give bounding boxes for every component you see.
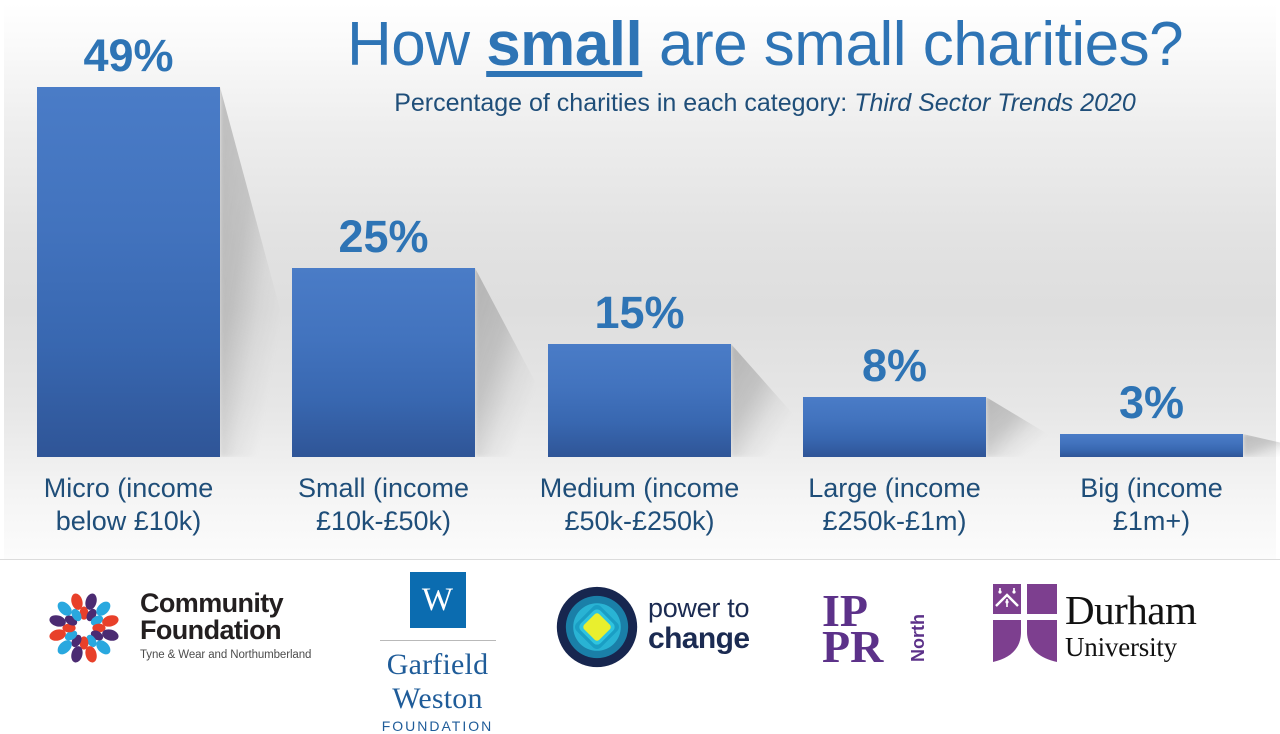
durham-shield-icon [990,582,1060,664]
bar-category-label-line: Small (income [276,472,491,505]
durham-line-2: University [1065,633,1196,662]
bar-category-label: Micro (incomebelow £10k) [21,472,236,538]
bar-category-label-line: below £10k) [21,505,236,538]
bar-category-label-line: £250k-£1m) [787,505,1002,538]
bar-category-label-line: Big (income [1044,472,1259,505]
bar-category-label: Small (income£10k-£50k) [276,472,491,538]
slide-canvas: How small are small charities? Percentag… [0,0,1280,720]
durham-line-1: Durham [1065,588,1196,633]
bar-shadow [220,87,282,457]
bar-category-label-line: £1m+) [1044,505,1259,538]
community-foundation-wordmark: Community Foundation Tyne & Wear and Nor… [140,590,311,663]
bar-value-label: 8% [803,341,986,391]
bar-chart: 49%Micro (incomebelow £10k)25%Small (inc… [0,0,1280,560]
bar-rect[interactable] [37,87,220,457]
bar-rect[interactable] [803,397,986,457]
power-to-change-wordmark: power to change [648,594,749,655]
ippr-north-wordmark-icon: IP PR North [820,588,940,668]
bar-rect[interactable] [548,344,731,457]
bar-category-label-line: £50k-£250k) [532,505,747,538]
bar-rect[interactable] [292,268,475,457]
bar-value-label: 25% [292,212,475,262]
bar-value-label: 49% [37,31,220,81]
logo-garfield-weston: W Garfield Weston FOUNDATION [350,572,525,702]
bar-category-label: Medium (income£50k-£250k) [532,472,747,538]
cf-line-2: Foundation [140,617,311,644]
cf-line-3: Tyne & Wear and Northumberland [140,647,311,663]
bar-value-label: 3% [1060,378,1243,428]
ptc-line-1: power to [648,594,749,623]
community-foundation-burst-icon [36,584,132,672]
garfield-weston-sub: FOUNDATION [350,718,525,734]
bar-group: 3%Big (income£1m+) [1060,434,1243,457]
svg-text:North: North [908,614,928,662]
bar-category-label-line: £10k-£50k) [276,505,491,538]
bar-shadow [1243,434,1280,457]
logo-community-foundation: Community Foundation Tyne & Wear and Nor… [36,580,336,675]
bar-category-label-line: Medium (income [532,472,747,505]
garfield-weston-name: Garfield Weston [350,648,525,716]
bar-category-label-line: Large (income [787,472,1002,505]
bar-shadow [731,344,793,457]
garfield-weston-rule [380,640,496,641]
bar-group: 49%Micro (incomebelow £10k) [37,87,220,457]
bar-category-label: Large (income£250k-£1m) [787,472,1002,538]
bar-shadow [986,397,1048,457]
bar-category-label: Big (income£1m+) [1044,472,1259,538]
svg-text:PR: PR [822,621,884,668]
bar-group: 8%Large (income£250k-£1m) [803,397,986,457]
logo-power-to-change: power to change [556,586,776,670]
ptc-line-2: change [648,623,749,655]
durham-wordmark: Durham University [1065,588,1196,662]
logo-durham-university: Durham University [990,582,1205,672]
bar-shadow [475,268,537,457]
cf-line-1: Community [140,590,311,617]
bar-rect[interactable] [1060,434,1243,457]
bar-value-label: 15% [548,288,731,338]
bar-group: 25%Small (income£10k-£50k) [292,268,475,457]
bar-group: 15%Medium (income£50k-£250k) [548,344,731,457]
bar-category-label-line: Micro (income [21,472,236,505]
partner-logos-strip: Community Foundation Tyne & Wear and Nor… [0,560,1280,720]
logo-ippr-north: IP PR North [820,588,940,668]
power-to-change-circles-icon [556,586,638,668]
garfield-weston-monogram-icon: W [410,572,466,628]
